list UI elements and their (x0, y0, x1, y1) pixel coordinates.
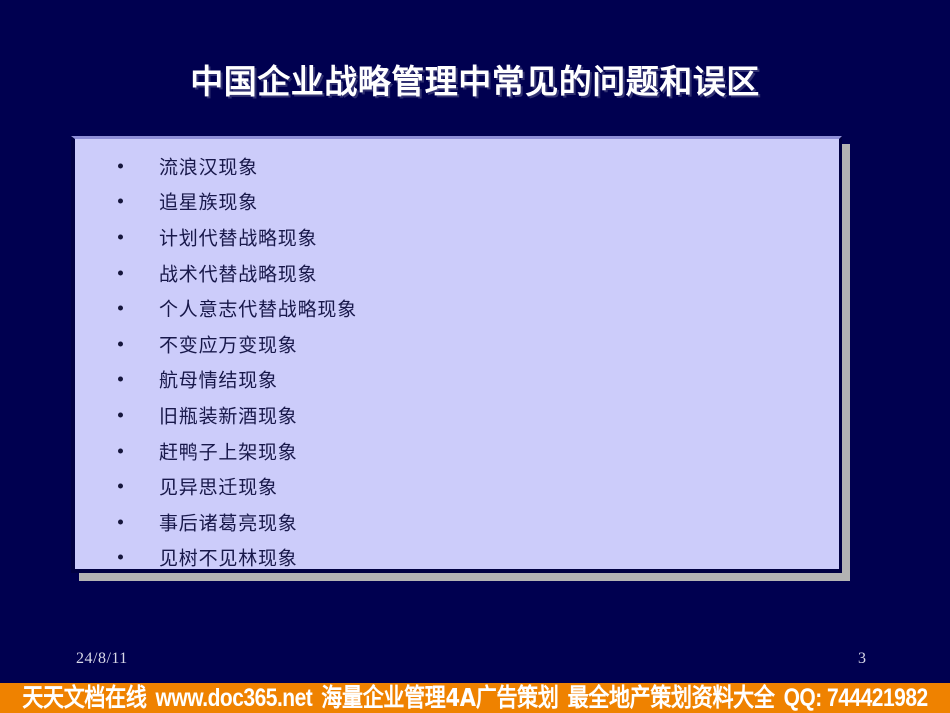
list-item-label: 赶鸭子上架现象 (159, 437, 298, 464)
list-item-label: 航母情结现象 (159, 366, 278, 393)
list-item-label: 追星族现象 (159, 188, 258, 215)
list-item-label: 见树不见林现象 (159, 544, 298, 571)
list-item: 战术代替战略现象 (75, 255, 839, 291)
list-item: 不变应万变现象 (75, 326, 839, 362)
watermark-bar: 天天文档在线 www.doc365.net 海量企业管理4A广告策划 最全地产策… (0, 683, 950, 713)
bullet-point-icon (118, 163, 123, 168)
watermark-content: 天天文档在线 www.doc365.net 海量企业管理4A广告策划 最全地产策… (22, 683, 927, 713)
bullet-point-icon (118, 306, 123, 311)
list-item: 流浪汉现象 (75, 148, 839, 184)
slide-page-number: 3 (858, 650, 866, 668)
bullet-point-icon (118, 199, 123, 204)
list-item-label: 见异思迁现象 (159, 473, 278, 500)
watermark-site-name: 天天文档在线 (22, 683, 146, 713)
list-item-label: 旧瓶装新酒现象 (159, 401, 298, 428)
bullet-list: 流浪汉现象 追星族现象 计划代替战略现象 战术代替战略现象 个人意志代替战略现象 (75, 148, 839, 573)
bullet-point-icon (118, 484, 123, 489)
list-item: 事后诸葛亮现象 (75, 504, 839, 540)
watermark-tagline-1: 海量企业管理4A广告策划 (321, 683, 558, 713)
bullet-point-icon (118, 448, 123, 453)
list-item-label: 事后诸葛亮现象 (159, 508, 298, 535)
list-item-label: 流浪汉现象 (159, 152, 258, 179)
watermark-qq: QQ: 744421982 (784, 683, 928, 713)
list-item: 航母情结现象 (75, 362, 839, 398)
bullet-point-icon (118, 412, 123, 417)
list-item: 见异思迁现象 (75, 468, 839, 504)
page-title: 中国企业战略管理中常见的问题和误区 (0, 60, 950, 104)
bullet-point-icon (118, 555, 123, 560)
list-item-label: 战术代替战略现象 (159, 259, 317, 286)
list-item: 赶鸭子上架现象 (75, 433, 839, 469)
list-item: 旧瓶装新酒现象 (75, 397, 839, 433)
list-item: 追星族现象 (75, 184, 839, 220)
slide-date: 24/8/11 (76, 650, 128, 668)
list-item-label: 不变应万变现象 (159, 330, 298, 357)
list-item: 个人意志代替战略现象 (75, 290, 839, 326)
bullet-point-icon (118, 377, 123, 382)
bullet-point-icon (118, 519, 123, 524)
bullet-point-icon (118, 270, 123, 275)
watermark-url[interactable]: www.doc365.net (156, 683, 313, 713)
list-item-label: 计划代替战略现象 (159, 223, 317, 250)
list-item: 见树不见林现象 (75, 540, 839, 573)
content-box: 流浪汉现象 追星族现象 计划代替战略现象 战术代替战略现象 个人意志代替战略现象 (71, 136, 842, 573)
watermark-tagline-2: 最全地产策划资料大全 (568, 683, 775, 713)
bullet-point-icon (118, 234, 123, 239)
list-item: 计划代替战略现象 (75, 219, 839, 255)
presentation-slide: 中国企业战略管理中常见的问题和误区 流浪汉现象 追星族现象 计划代替战略现象 战… (0, 0, 950, 713)
list-item-label: 个人意志代替战略现象 (159, 295, 357, 322)
bullet-point-icon (118, 341, 123, 346)
